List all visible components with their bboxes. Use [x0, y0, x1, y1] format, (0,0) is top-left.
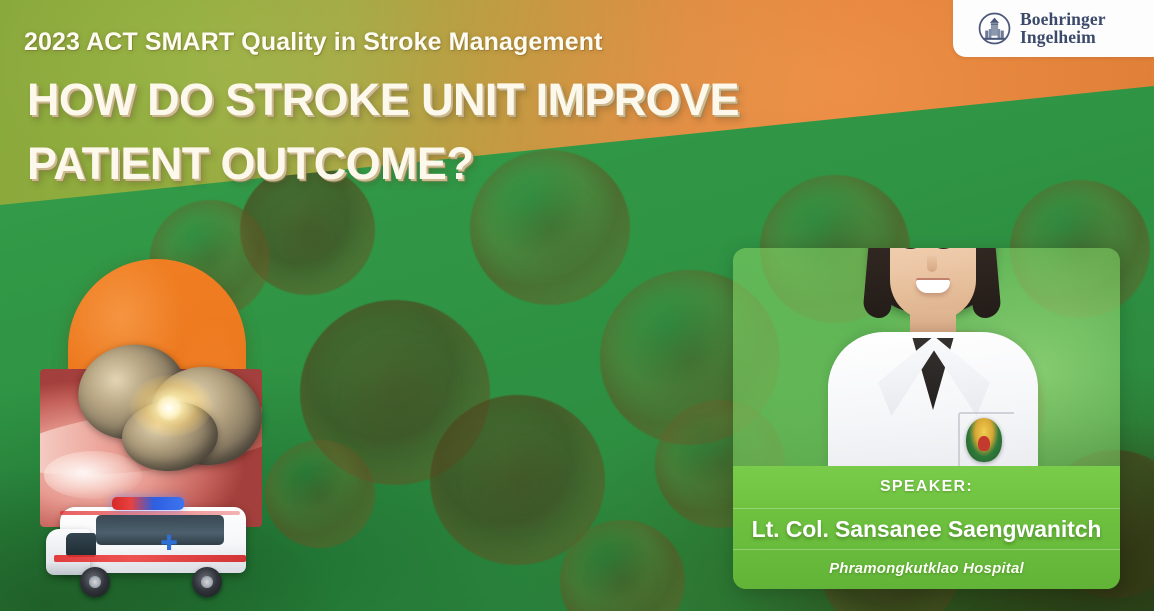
boehringer-ingelheim-logo: Boehringer Ingelheim	[953, 0, 1154, 57]
stroke-management-banner: 2023 ACT SMART Quality in Stroke Managem…	[0, 0, 1154, 611]
page-title: HOW DO STROKE UNIT IMPROVE PATIENT OUTCO…	[27, 78, 739, 186]
ambulance-illustration: ✚	[46, 493, 254, 597]
portrait-nose	[927, 256, 937, 272]
ambulance-stripe	[54, 555, 246, 562]
event-subtitle: 2023 ACT SMART Quality in Stroke Managem…	[24, 28, 603, 57]
ambulance-upper-stripe	[60, 511, 240, 515]
panel-divider	[733, 508, 1120, 509]
hospital-emblem-icon	[966, 418, 1002, 462]
speaker-info-panel: SPEAKER: Lt. Col. Sansanee Saengwanitch …	[733, 466, 1120, 589]
panel-divider	[733, 549, 1120, 550]
headline-line-2: PATIENT OUTCOME?	[27, 142, 739, 187]
star-of-life-icon: ✚	[158, 533, 180, 555]
boehringer-ingelheim-emblem-icon	[978, 12, 1011, 45]
logo-line-2: Ingelheim	[1020, 29, 1106, 47]
logo-wordmark: Boehringer Ingelheim	[1020, 11, 1106, 47]
speaker-organization: Phramongkutklao Hospital	[733, 560, 1120, 577]
ambulance-lightbar	[112, 497, 184, 510]
glowing-brain-illustration	[76, 343, 262, 475]
speaker-name: Lt. Col. Sansanee Saengwanitch	[733, 516, 1120, 543]
speaker-label: SPEAKER:	[733, 478, 1120, 496]
headline-line-1: HOW DO STROKE UNIT IMPROVE	[27, 78, 739, 123]
stroke-care-artwork: ✚	[28, 251, 280, 611]
ambulance-wheel	[192, 567, 222, 597]
speaker-card: SPEAKER: Lt. Col. Sansanee Saengwanitch …	[733, 248, 1120, 589]
portrait-smile	[916, 280, 950, 293]
logo-line-1: Boehringer	[1020, 11, 1106, 29]
ambulance-wheel	[80, 567, 110, 597]
brain-spark-icon	[156, 395, 182, 421]
ambulance-windshield	[66, 533, 96, 557]
